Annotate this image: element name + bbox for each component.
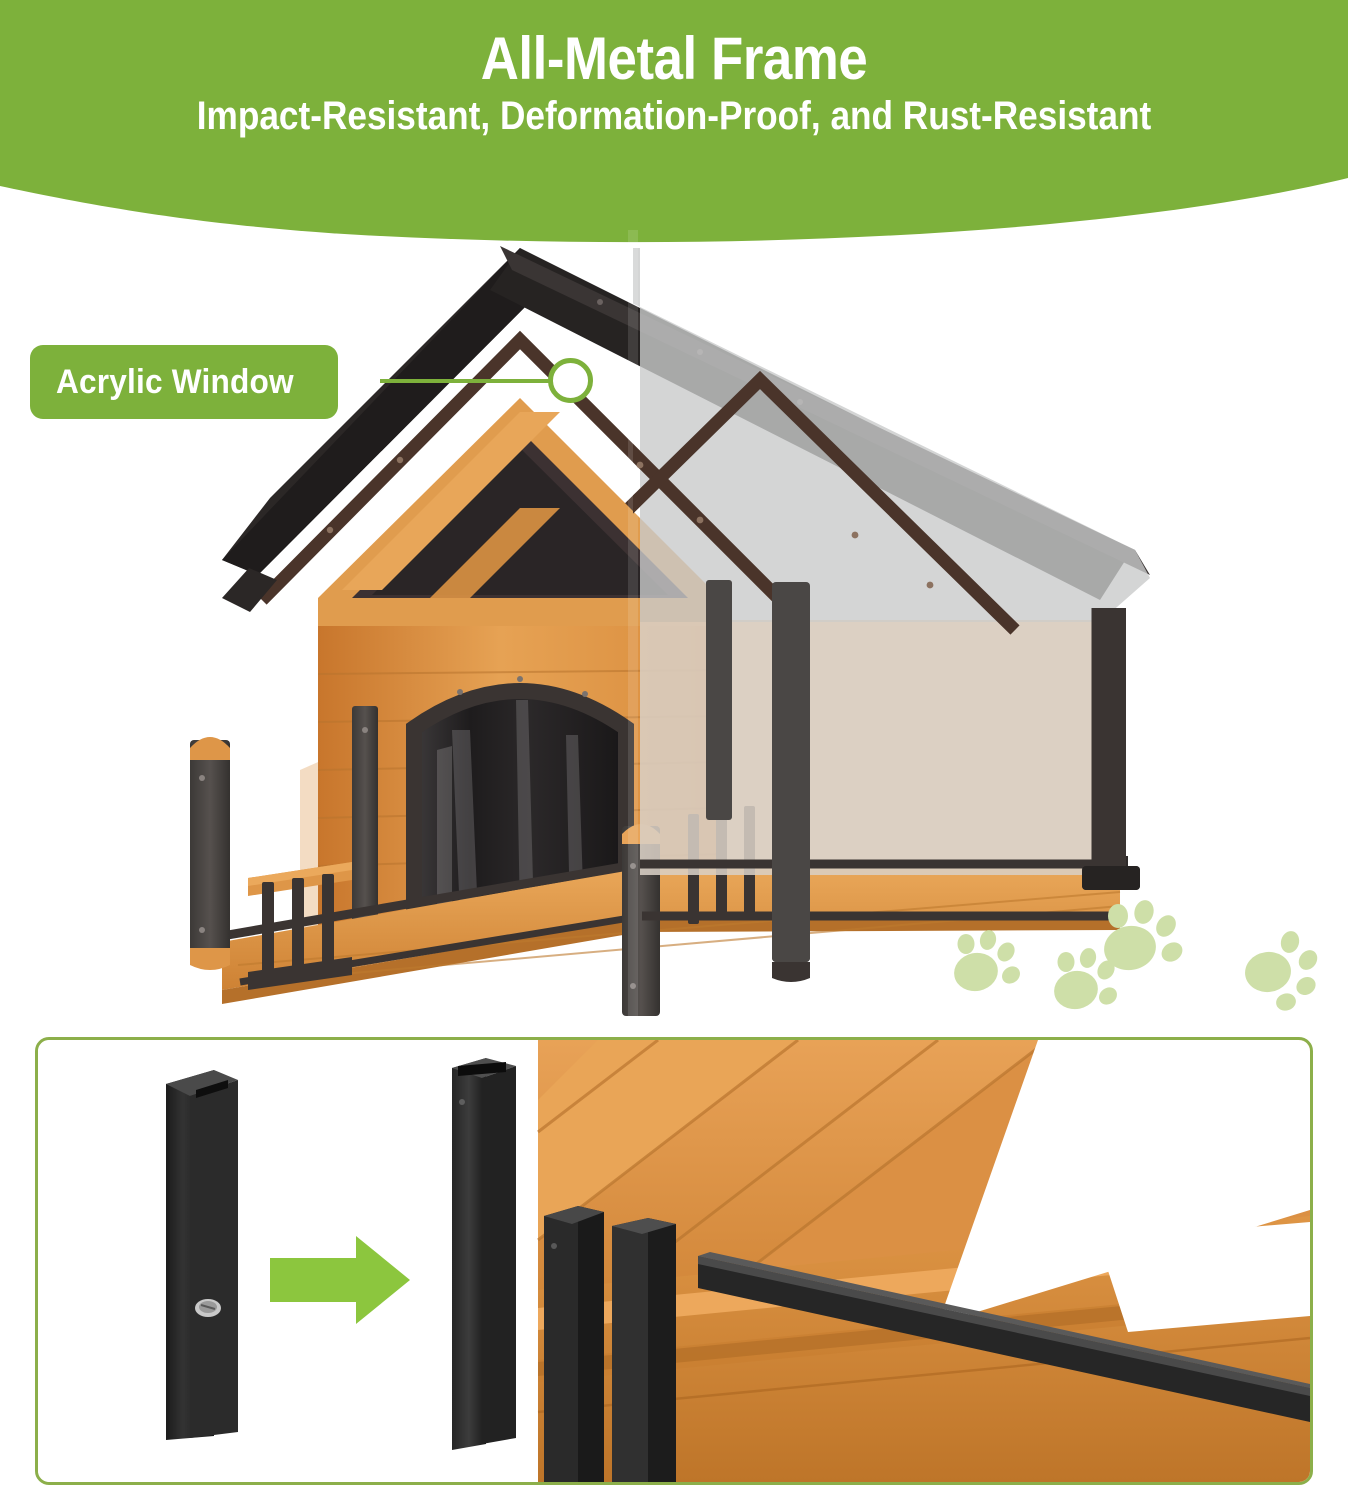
post-detail-photo (38, 1040, 1310, 1482)
post-screw (195, 1299, 221, 1317)
paw-print-decoration (940, 900, 1340, 1030)
paw-print (951, 928, 1024, 995)
paw-print (1101, 900, 1187, 974)
banner-title: All-Metal Frame (81, 0, 1267, 89)
header-banner: All-Metal Frame Impact-Resistant, Deform… (0, 0, 1348, 268)
callout-target-dot (548, 358, 593, 403)
paw-print (1242, 929, 1321, 1013)
callout-label: Acrylic Window (56, 363, 294, 402)
banner-text-block: All-Metal Frame Impact-Resistant, Deform… (0, 0, 1348, 137)
metal-post-assembly-detail (35, 1037, 1313, 1485)
acrylic-window-callout[interactable]: Acrylic Window (30, 345, 338, 419)
metal-post-loose (166, 1070, 238, 1440)
paw-prints-svg (940, 900, 1340, 1030)
railing-post-left (190, 737, 230, 970)
metal-post-installed (452, 1058, 516, 1450)
banner-subtitle: Impact-Resistant, Deformation-Proof, and… (81, 89, 1267, 137)
callout-leader-line (380, 379, 555, 383)
infographic-page: All-Metal Frame Impact-Resistant, Deform… (0, 0, 1348, 1500)
